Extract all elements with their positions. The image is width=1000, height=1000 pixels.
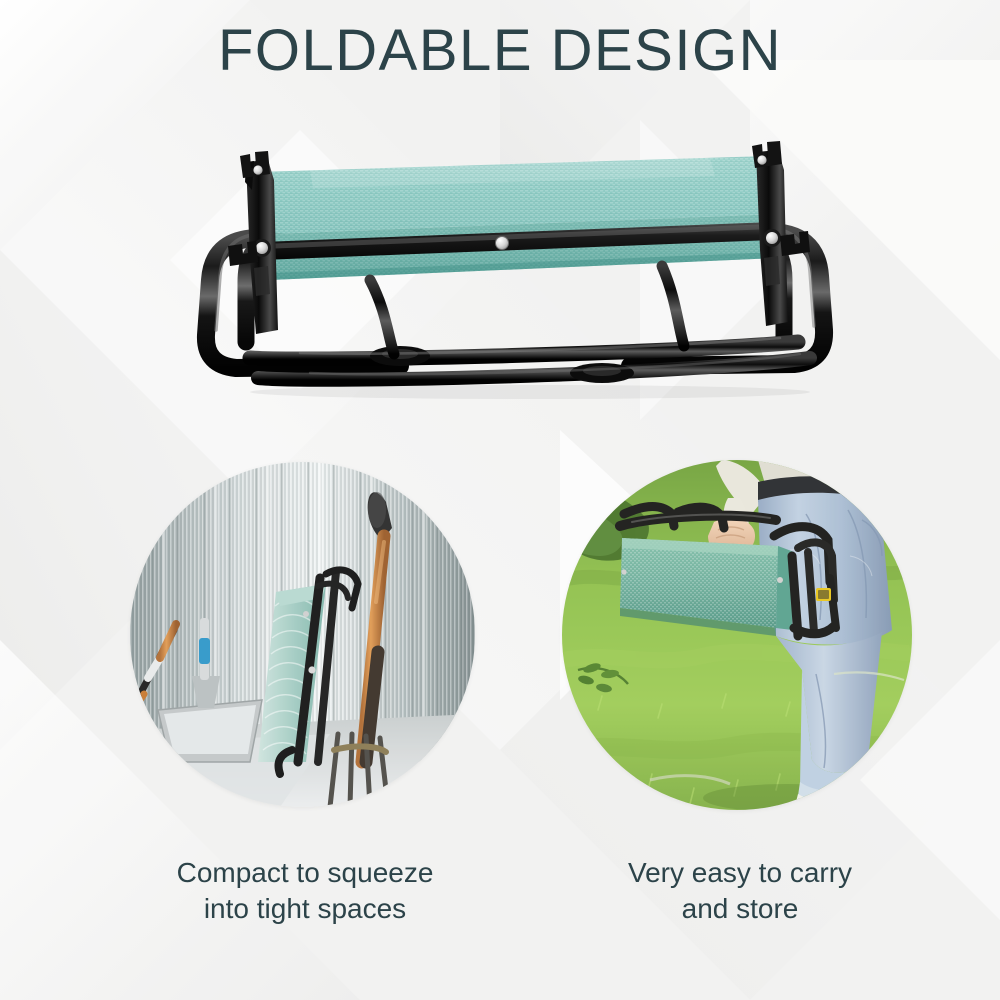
caption-line-1: Very easy to carry	[628, 857, 852, 888]
pivot-bolt-icon	[256, 242, 268, 254]
feature-photo-compact-storage	[130, 462, 475, 807]
bolt-icon	[757, 155, 766, 164]
right-pivot-bracket	[752, 141, 810, 326]
title-block: FOLDABLE DESIGN	[0, 22, 1000, 80]
pivot-bolt-icon	[766, 232, 778, 244]
caption-line-1: Compact to squeeze	[177, 857, 434, 888]
caption-compact-storage: Compact to squeeze into tight spaces	[110, 855, 500, 927]
caption-line-2: into tight spaces	[110, 891, 500, 927]
page-title: FOLDABLE DESIGN	[0, 22, 1000, 80]
diagonal-struts	[370, 266, 684, 354]
feature-photo-easy-carry	[562, 460, 912, 810]
caption-easy-carry: Very easy to carry and store	[570, 855, 910, 927]
foam-kneeling-pad	[256, 156, 778, 280]
hero-product-image	[150, 130, 870, 400]
folded-leg-tubes	[250, 338, 810, 383]
caption-line-2: and store	[570, 891, 910, 927]
bolt-icon	[253, 165, 262, 174]
